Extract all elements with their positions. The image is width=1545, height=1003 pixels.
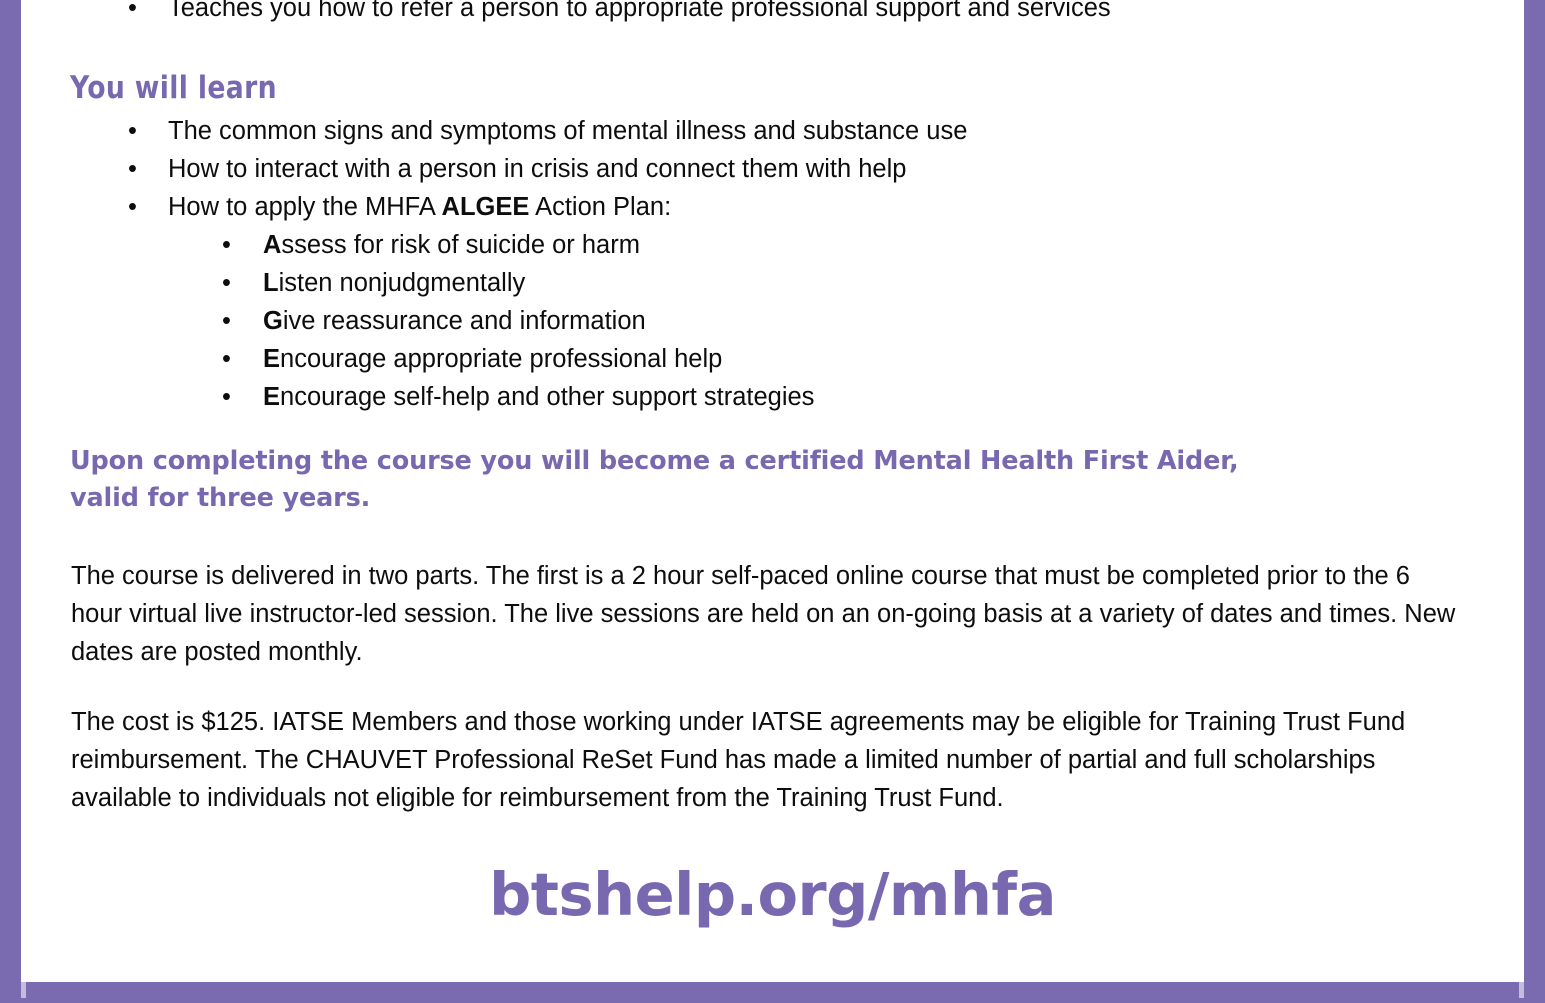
flyer-content: • Teaches you how to refer a person to a…	[0, 0, 1545, 1003]
list-item-algee-header: • How to apply the MHFA ALGEE Action Pla…	[128, 188, 1448, 226]
bullet-dot-icon: •	[222, 264, 236, 302]
list-item-label-prefix: How to apply the MHFA	[168, 193, 442, 221]
list-item: • Assess for risk of suicide or harm	[222, 226, 1448, 264]
bullet-dot-icon: •	[222, 340, 236, 378]
algee-sub-list: • Assess for risk of suicide or harm • L…	[222, 226, 1448, 416]
footer-url[interactable]: btshelp.org/mhfa	[0, 860, 1545, 929]
learn-bullet-group: • The common signs and symptoms of menta…	[128, 112, 1448, 416]
list-item-label: ncourage appropriate professional help	[280, 345, 722, 373]
list-item: • Give reassurance and information	[222, 302, 1448, 340]
list-item-label: ssess for risk of suicide or harm	[281, 231, 640, 259]
bullet-dot-icon: •	[128, 112, 142, 150]
list-item-label: ive reassurance and information	[283, 307, 646, 335]
list-item: • Listen nonjudgmentally	[222, 264, 1448, 302]
bullet-dot-icon: •	[222, 226, 236, 264]
callout-line-1: Upon completing the course you will beco…	[70, 443, 1400, 480]
algee-letter: L	[263, 269, 279, 297]
bullet-dot-icon: •	[128, 0, 142, 27]
bullet-dot-icon: •	[128, 150, 142, 188]
algee-letter: E	[263, 345, 280, 373]
top-bullet-list: • Teaches you how to refer a person to a…	[128, 0, 1428, 27]
list-item-label-suffix: Action Plan:	[529, 193, 671, 221]
list-item-label: ncourage self-help and other support str…	[280, 383, 814, 411]
callout-line-2: valid for three years.	[70, 480, 1400, 517]
bullet-dot-icon: •	[128, 188, 142, 226]
list-item: • The common signs and symptoms of menta…	[128, 112, 1448, 150]
list-item-label: How to interact with a person in crisis …	[168, 155, 906, 183]
section-heading-you-will-learn: You will learn	[70, 70, 277, 106]
list-item-label: The common signs and symptoms of mental …	[168, 117, 967, 145]
bullet-dot-icon: •	[222, 302, 236, 340]
algee-letter: G	[263, 307, 283, 335]
paragraph-cost: The cost is $125. IATSE Members and thos…	[71, 703, 1466, 817]
bullet-dot-icon: •	[222, 378, 236, 416]
list-item: • Teaches you how to refer a person to a…	[128, 0, 1428, 27]
algee-letter: E	[263, 383, 280, 411]
certification-callout: Upon completing the course you will beco…	[70, 443, 1400, 517]
list-item-label: Teaches you how to refer a person to app…	[168, 0, 1111, 22]
list-item: • Encourage appropriate professional hel…	[222, 340, 1448, 378]
algee-acronym: ALGEE	[442, 193, 530, 221]
list-item: • Encourage self-help and other support …	[222, 378, 1448, 416]
list-item-label: isten nonjudgmentally	[279, 269, 526, 297]
paragraph-delivery: The course is delivered in two parts. Th…	[71, 557, 1466, 671]
flyer-page: • Teaches you how to refer a person to a…	[0, 0, 1545, 1003]
algee-letter: A	[263, 231, 281, 259]
list-item: • How to interact with a person in crisi…	[128, 150, 1448, 188]
learn-bullet-list: • The common signs and symptoms of menta…	[128, 112, 1448, 226]
